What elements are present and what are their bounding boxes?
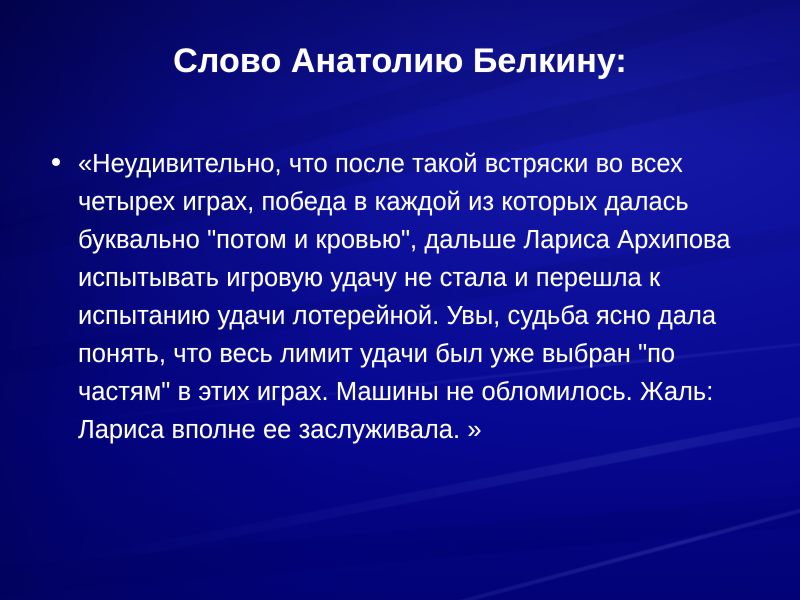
bullet-list-item: «Неудивительно, что после такой встряски…: [52, 145, 752, 449]
disc-bullet-icon: [52, 158, 60, 166]
slide-content: Слово Анатолию Белкину: «Неудивительно, …: [0, 0, 800, 600]
presentation-slide: Слово Анатолию Белкину: «Неудивительно, …: [0, 0, 800, 600]
slide-title: Слово Анатолию Белкину:: [0, 42, 800, 80]
bullet-item-text: «Неудивительно, что после такой встряски…: [78, 145, 752, 449]
